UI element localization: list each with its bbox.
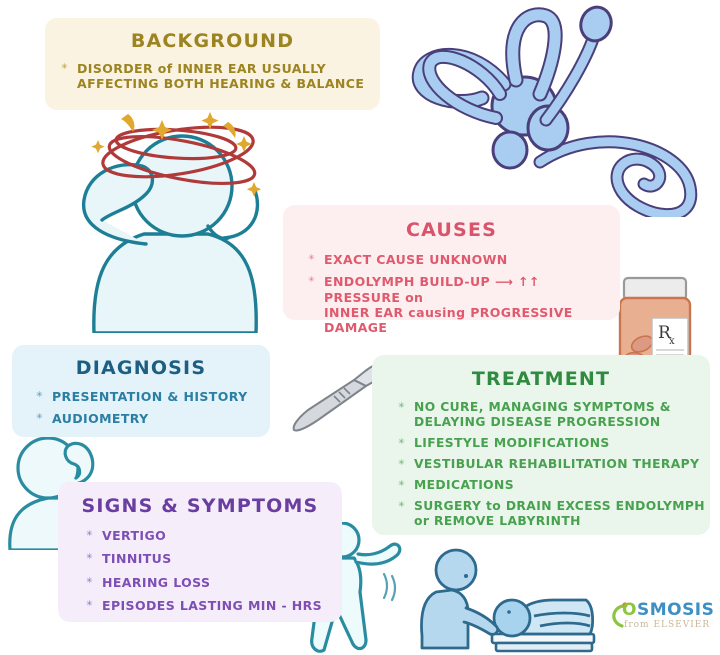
list-item: MEDICATIONS: [398, 478, 710, 493]
background-line-1: DISORDER: [77, 61, 153, 76]
list-item: LIFESTYLE MODIFICATIONS: [398, 436, 710, 451]
list-item: VESTIBULAR REHABILITATION THERAPY: [398, 457, 710, 472]
list-item: EXACT CAUSE UNKNOWN: [308, 252, 620, 267]
panel-signs-list: VERTIGO TINNITUS HEARING LOSS EPISODES L…: [58, 528, 342, 613]
panel-causes-title: CAUSES: [283, 205, 620, 241]
panel-diagnosis-list: PRESENTATION & HISTORY AUDIOMETRY: [12, 389, 270, 427]
list-item: NO CURE, MANAGING SYMPTOMS & DELAYING DI…: [398, 400, 710, 430]
panel-treatment: TREATMENT NO CURE, MANAGING SYMPTOMS & D…: [372, 355, 710, 535]
panel-causes: CAUSES EXACT CAUSE UNKNOWN ENDOLYMPH BUI…: [283, 205, 620, 320]
causes-part-b: PRESSURE: [324, 290, 400, 305]
list-item: TINNITUS: [86, 551, 342, 566]
panel-signs-title: SIGNS & SYMPTOMS: [58, 482, 342, 517]
panel-signs-symptoms: SIGNS & SYMPTOMS VERTIGO TINNITUS HEARIN…: [58, 482, 342, 622]
list-item: ENDOLYMPH BUILD-UP ⟶ ↑↑ PRESSURE on INNE…: [308, 274, 620, 335]
panel-treatment-list: NO CURE, MANAGING SYMPTOMS & DELAYING DI…: [372, 400, 710, 529]
panel-background-title: BACKGROUND: [45, 18, 380, 52]
causes-lc-1: on: [405, 290, 423, 305]
list-item: SURGERY to DRAIN EXCESS ENDOLYMPH or REM…: [398, 499, 710, 529]
list-item: PRESENTATION & HISTORY: [36, 389, 270, 404]
svg-text:x: x: [669, 336, 675, 347]
treatment-5a: SURGERY: [414, 499, 481, 513]
arrow-icon: ⟶: [495, 274, 513, 289]
treatment-1a: NO CURE, MANAGING SYMPTOMS &: [414, 400, 671, 414]
background-line-2: INNER EAR USUALLY: [177, 61, 326, 76]
osmosis-brand-rest: SMOSIS: [637, 600, 714, 620]
osmosis-wordmark: OSMOSIS: [622, 600, 714, 620]
treatment-5c: REMOVE LABYRINTH: [434, 514, 581, 528]
list-item: DISORDER of INNER EAR USUALLY AFFECTING …: [61, 61, 380, 92]
osmosis-tagline: from ELSEVIER: [624, 620, 710, 630]
list-item: HEARING LOSS: [86, 575, 342, 590]
panel-treatment-title: TREATMENT: [372, 355, 710, 390]
treatment-lc-1: to: [486, 499, 501, 513]
inner-ear-cochlea-illustration: [400, 2, 720, 217]
panel-diagnosis-title: DIAGNOSIS: [12, 345, 270, 379]
surgeon-operating-illustration: [408, 548, 598, 655]
background-line-3: AFFECTING BOTH HEARING & BALANCE: [77, 76, 364, 91]
treatment-lc-2: or: [414, 514, 429, 528]
dizzy-person-illustration: [58, 108, 293, 333]
panel-diagnosis: DIAGNOSIS PRESENTATION & HISTORY AUDIOME…: [12, 345, 270, 437]
causes-lc-2: causing: [408, 305, 465, 320]
panel-background-list: DISORDER of INNER EAR USUALLY AFFECTING …: [45, 61, 380, 92]
treatment-5b: DRAIN EXCESS ENDOLYMPH: [506, 499, 705, 513]
panel-background: BACKGROUND DISORDER of INNER EAR USUALLY…: [45, 18, 380, 110]
causes-part-a: ENDOLYMPH BUILD-UP: [324, 274, 490, 289]
background-lc-1: of: [158, 61, 173, 76]
osmosis-logo[interactable]: OSMOSIS from ELSEVIER: [604, 598, 714, 640]
list-item: EPISODES LASTING MIN - HRS: [86, 598, 342, 613]
panel-causes-list: EXACT CAUSE UNKNOWN ENDOLYMPH BUILD-UP ⟶…: [283, 252, 620, 335]
osmosis-brand-o: O: [622, 600, 637, 620]
up-arrows-icon: ↑↑: [518, 274, 540, 289]
list-item: VERTIGO: [86, 528, 342, 543]
list-item: AUDIOMETRY: [36, 411, 270, 426]
infographic-canvas: R x: [0, 0, 720, 655]
treatment-1b: DELAYING DISEASE PROGRESSION: [414, 415, 661, 429]
causes-part-c: INNER EAR: [324, 305, 404, 320]
